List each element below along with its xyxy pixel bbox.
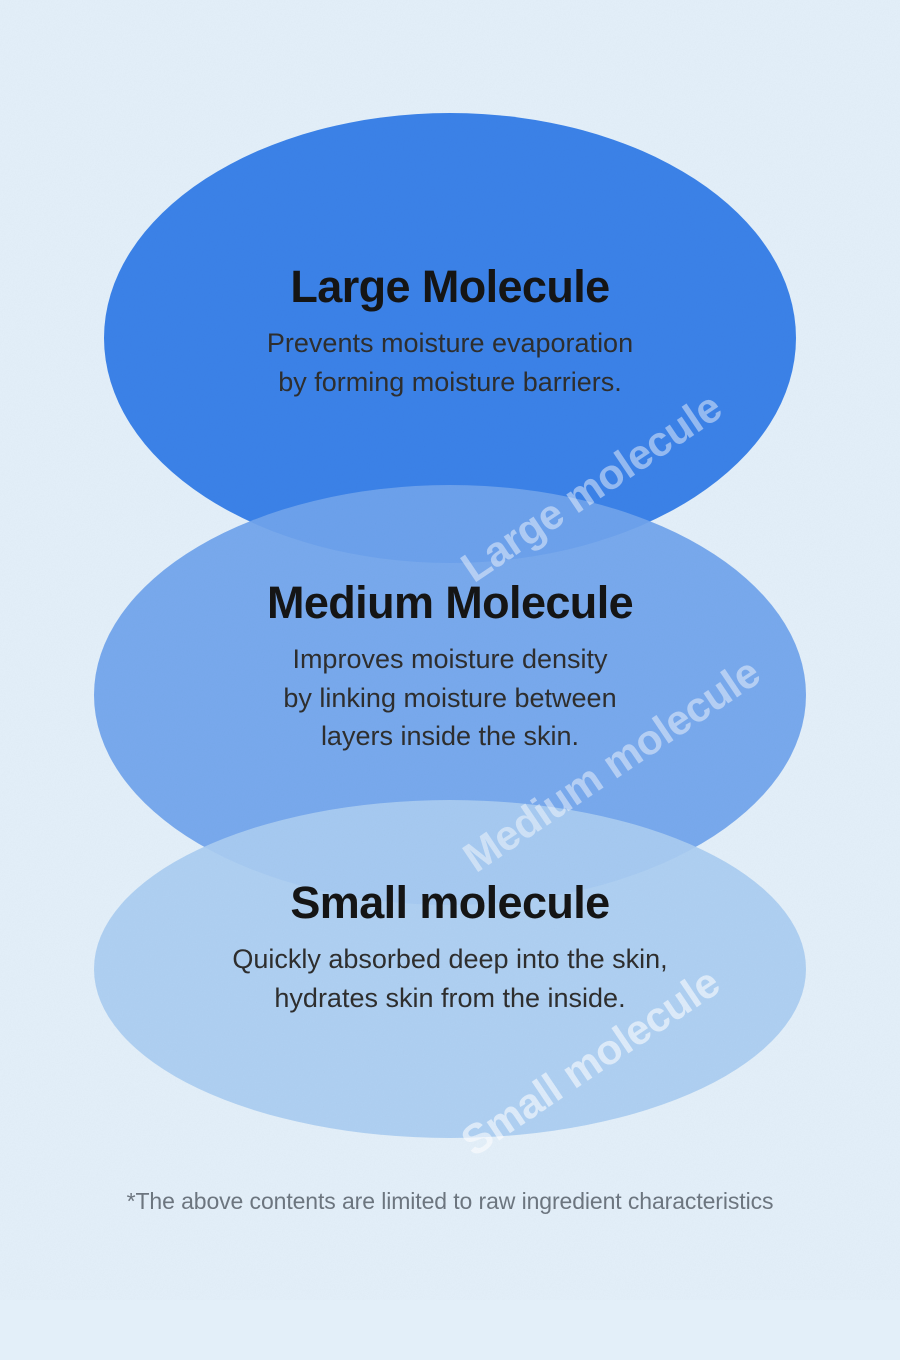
description-line: layers inside the skin.: [0, 717, 900, 755]
title-small-molecule: Small molecule: [0, 878, 900, 928]
copy-block-small: Small molecule Quickly absorbed deep int…: [0, 878, 900, 1017]
description-line: Improves moisture density: [0, 640, 900, 678]
description-line: Prevents moisture evaporation: [0, 324, 900, 362]
description-line: hydrates skin from the inside.: [0, 979, 900, 1017]
footer-disclaimer: *The above contents are limited to raw i…: [0, 1188, 900, 1215]
description-line: by forming moisture barriers.: [0, 363, 900, 401]
description-medium-molecule: Improves moisture density by linking moi…: [0, 640, 900, 755]
infographic-stage: Large molecule Medium molecule Small mol…: [0, 0, 900, 1300]
description-small-molecule: Quickly absorbed deep into the skin, hyd…: [0, 940, 900, 1017]
copy-block-medium: Medium Molecule Improves moisture densit…: [0, 578, 900, 755]
title-large-molecule: Large Molecule: [0, 262, 900, 312]
description-line: by linking moisture between: [0, 679, 900, 717]
description-large-molecule: Prevents moisture evaporation by forming…: [0, 324, 900, 401]
title-medium-molecule: Medium Molecule: [0, 578, 900, 628]
copy-block-large: Large Molecule Prevents moisture evapora…: [0, 262, 900, 401]
description-line: Quickly absorbed deep into the skin,: [0, 940, 900, 978]
